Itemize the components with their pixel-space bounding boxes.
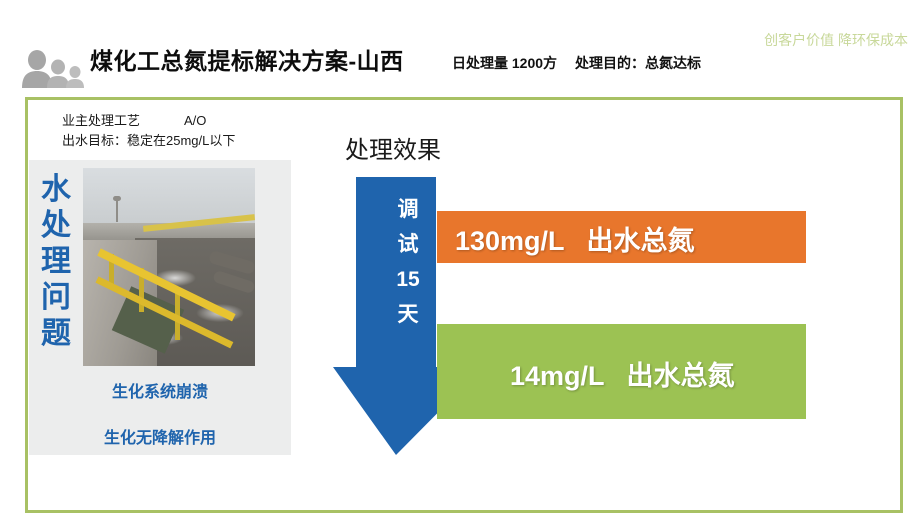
photo-lamp-post xyxy=(116,200,118,222)
problem-text-collapse: 生化系统崩溃 xyxy=(29,378,291,402)
before-label: 出水总氮 xyxy=(587,226,695,256)
after-value: 14mg/L xyxy=(510,361,605,391)
before-bar-text: 130mg/L出水总氮 xyxy=(455,219,695,258)
page-title: 煤化工总氮提标解决方案-山西 xyxy=(90,42,404,76)
watermark-slogan: 创客户价值 降环保成本 xyxy=(764,30,908,50)
problem-text-no-degradation: 生化无降解作用 xyxy=(29,424,291,448)
aeration-basin-photo xyxy=(83,168,255,366)
vertical-char-4: 问 xyxy=(33,280,79,316)
vertical-char-3: 理 xyxy=(33,244,79,280)
after-bar-text: 14mg/L出水总氮 xyxy=(510,354,735,393)
after-result-bar: 14mg/L出水总氮 xyxy=(437,324,806,419)
owner-process-label: 业主处理工艺 xyxy=(62,113,140,128)
people-group-icon xyxy=(18,48,88,88)
throughput-text: 日处理量 1200方 xyxy=(452,55,557,71)
owner-process-value: A/O xyxy=(184,113,206,128)
arrow-line-3: 15 xyxy=(333,262,483,297)
before-result-bar: 130mg/L出水总氮 xyxy=(437,211,806,263)
vertical-char-5: 题 xyxy=(33,316,79,352)
effluent-target-line: 出水目标：稳定在25mg/L以下 xyxy=(62,130,235,149)
vertical-char-1: 水 xyxy=(33,172,79,208)
after-label: 出水总氮 xyxy=(627,361,735,391)
effect-heading: 处理效果 xyxy=(345,130,441,165)
owner-process-line: 业主处理工艺A/O xyxy=(62,110,206,129)
purpose-text: 处理目的：总氮达标 xyxy=(575,55,701,71)
slide-header: 煤化工总氮提标解决方案-山西 日处理量 1200方处理目的：总氮达标 创客户价值… xyxy=(0,0,922,97)
header-meta: 日处理量 1200方处理目的：总氮达标 xyxy=(452,53,701,73)
vertical-char-2: 处 xyxy=(33,208,79,244)
before-value: 130mg/L xyxy=(455,226,565,256)
vertical-problem-label: 水 处 理 问 题 xyxy=(33,172,79,352)
